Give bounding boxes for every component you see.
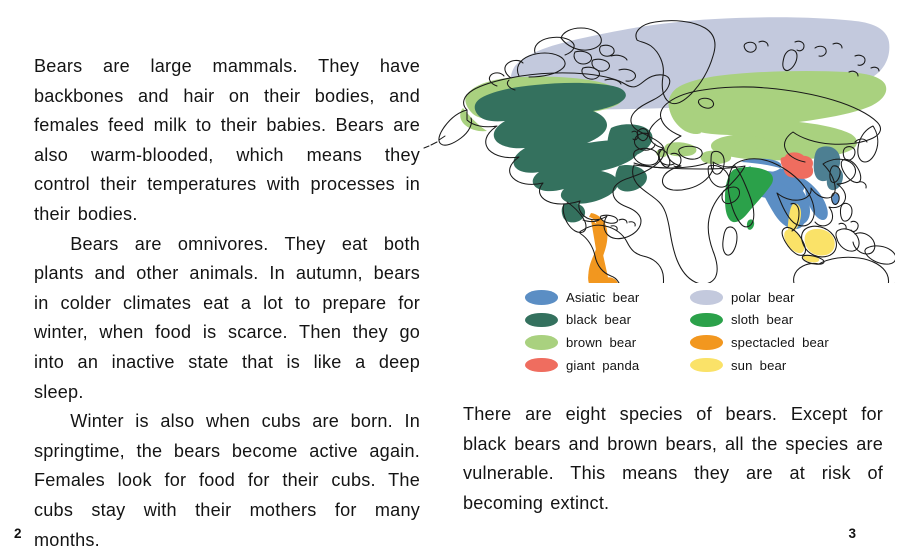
legend-swatch-brown-bear [525, 335, 558, 350]
legend-label-spectacled-bear: spectacled bear [731, 335, 829, 350]
legend-swatch-black-bear [525, 313, 558, 328]
book-spread: Bears are large mammals. They have backb… [0, 0, 900, 560]
legend-label-sun-bear: sun bear [731, 358, 786, 373]
legend-item-polar-bear[interactable]: polar bear [690, 290, 855, 305]
left-page-body-text: Bears are large mammals. They have backb… [34, 52, 420, 555]
paragraph-3: Winter is also when cubs are born. In sp… [34, 407, 420, 555]
legend-item-sloth-bear[interactable]: sloth bear [690, 312, 855, 327]
legend-item-asiatic-bear[interactable]: Asiatic bear [525, 290, 690, 305]
legend-item-giant-panda[interactable]: giant panda [525, 358, 690, 373]
paragraph-2: Bears are omnivores. They eat both plant… [34, 230, 420, 408]
page-left: Bears are large mammals. They have backb… [0, 0, 450, 560]
paragraph-4: There are eight species of bears. Except… [463, 400, 883, 518]
legend-item-brown-bear[interactable]: brown bear [525, 335, 690, 350]
legend-swatch-asiatic-bear [525, 290, 558, 305]
legend-label-sloth-bear: sloth bear [731, 312, 793, 327]
legend-label-brown-bear: brown bear [566, 335, 636, 350]
world-bear-distribution-map [415, 8, 895, 283]
legend-label-giant-panda: giant panda [566, 358, 639, 373]
page-number-right: 3 [848, 526, 856, 541]
legend-item-sun-bear[interactable]: sun bear [690, 358, 855, 373]
page-number-left: 2 [14, 526, 22, 541]
legend-swatch-sun-bear [690, 358, 723, 373]
legend-swatch-spectacled-bear [690, 335, 723, 350]
legend-swatch-sloth-bear [690, 313, 723, 328]
legend-swatch-polar-bear [690, 290, 723, 305]
map-svg [415, 8, 895, 283]
page-right: Asiatic bear polar bear black bear sloth… [450, 0, 900, 560]
paragraph-1: Bears are large mammals. They have backb… [34, 52, 420, 230]
legend-item-spectacled-bear[interactable]: spectacled bear [690, 335, 855, 350]
bear-species-legend: Asiatic bear polar bear black bear sloth… [525, 286, 900, 376]
legend-label-asiatic-bear: Asiatic bear [566, 290, 639, 305]
legend-swatch-giant-panda [525, 358, 558, 373]
right-page-body-text: There are eight species of bears. Except… [463, 400, 883, 518]
legend-label-black-bear: black bear [566, 312, 631, 327]
legend-item-black-bear[interactable]: black bear [525, 312, 690, 327]
legend-label-polar-bear: polar bear [731, 290, 795, 305]
